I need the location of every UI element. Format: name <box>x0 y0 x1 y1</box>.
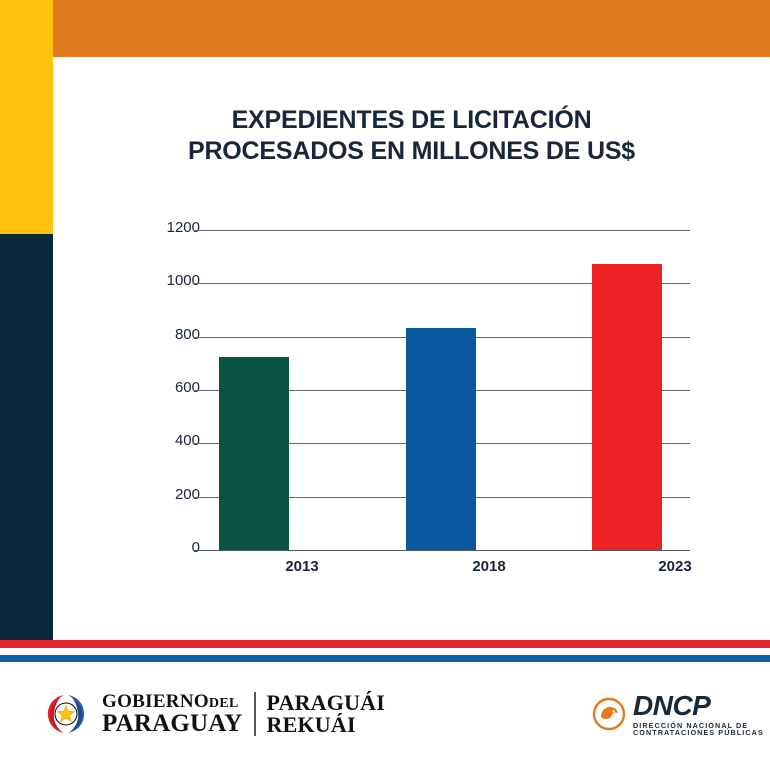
logo-divider <box>254 692 256 736</box>
y-tick-label-600: 600 <box>140 379 200 396</box>
chart-title-line-1: EXPEDIENTES DE LICITACIÓN <box>53 105 770 136</box>
gov-word-del: DEL <box>209 696 239 711</box>
dncp-acronym: DNCP <box>633 692 764 720</box>
x-tick-label-2023: 2023 <box>640 558 710 575</box>
dncp-wordmark: DNCP DIRECCIÓN NACIONAL DE CONTRATACIONE… <box>633 692 764 736</box>
y-tick-label-200: 200 <box>140 486 200 503</box>
x-tick-label-2018: 2018 <box>454 558 524 575</box>
footer-stripe-red <box>0 640 770 648</box>
gov-line-paraguay: PARAGUAY <box>102 711 243 737</box>
chart-title: EXPEDIENTES DE LICITACIÓN PROCESADOS EN … <box>53 105 770 166</box>
y-tick-label-1000: 1000 <box>140 272 200 289</box>
x-tick-label-2013: 2013 <box>267 558 337 575</box>
dncp-jaguar-circle-icon <box>592 697 626 731</box>
footer-stripe-blue <box>0 655 770 662</box>
gobierno-paraguay-logo: GOBIERNODEL PARAGUAY PARAGUÁI REKUÁI <box>40 688 385 740</box>
y-tick-label-800: 800 <box>140 326 200 343</box>
gov-line-paraguai: PARAGUÁI <box>267 692 386 714</box>
sidebar-navy-band <box>0 234 53 640</box>
plot-area: 2013 2018 2023 <box>193 215 690 550</box>
bar-2018[interactable] <box>406 328 476 550</box>
bar-chart: 1200 1000 800 600 400 200 0 2013 2018 20… <box>145 215 705 560</box>
gov-name-gn: PARAGUÁI REKUÁI <box>267 692 386 737</box>
top-orange-band <box>53 0 770 57</box>
dncp-logo: DNCP DIRECCIÓN NACIONAL DE CONTRATACIONE… <box>592 692 764 736</box>
chart-title-line-2: PROCESADOS EN MILLONES DE US$ <box>53 136 770 167</box>
gov-line-gobierno: GOBIERNODEL <box>102 692 243 711</box>
y-tick-label-400: 400 <box>140 432 200 449</box>
gobierno-paraguay-wordmark: GOBIERNODEL PARAGUAY PARAGUÁI REKUÁI <box>102 692 385 737</box>
paraguay-coat-of-arms-icon <box>40 688 92 740</box>
y-tick-label-1200: 1200 <box>140 219 200 236</box>
dncp-subtitle-line-2: CONTRATACIONES PÚBLICAS <box>633 729 764 736</box>
y-tick-label-0: 0 <box>140 539 200 556</box>
gov-word-gobierno: GOBIERNO <box>102 691 209 712</box>
sidebar-yellow-band <box>0 0 53 234</box>
bar-2023[interactable] <box>592 264 662 550</box>
gov-name-es: GOBIERNODEL PARAGUAY <box>102 692 243 737</box>
footer-stripe-white <box>0 648 770 655</box>
bar-2013[interactable] <box>219 357 289 550</box>
x-axis-baseline <box>193 550 690 551</box>
gov-line-rekuai: REKUÁI <box>267 714 386 736</box>
